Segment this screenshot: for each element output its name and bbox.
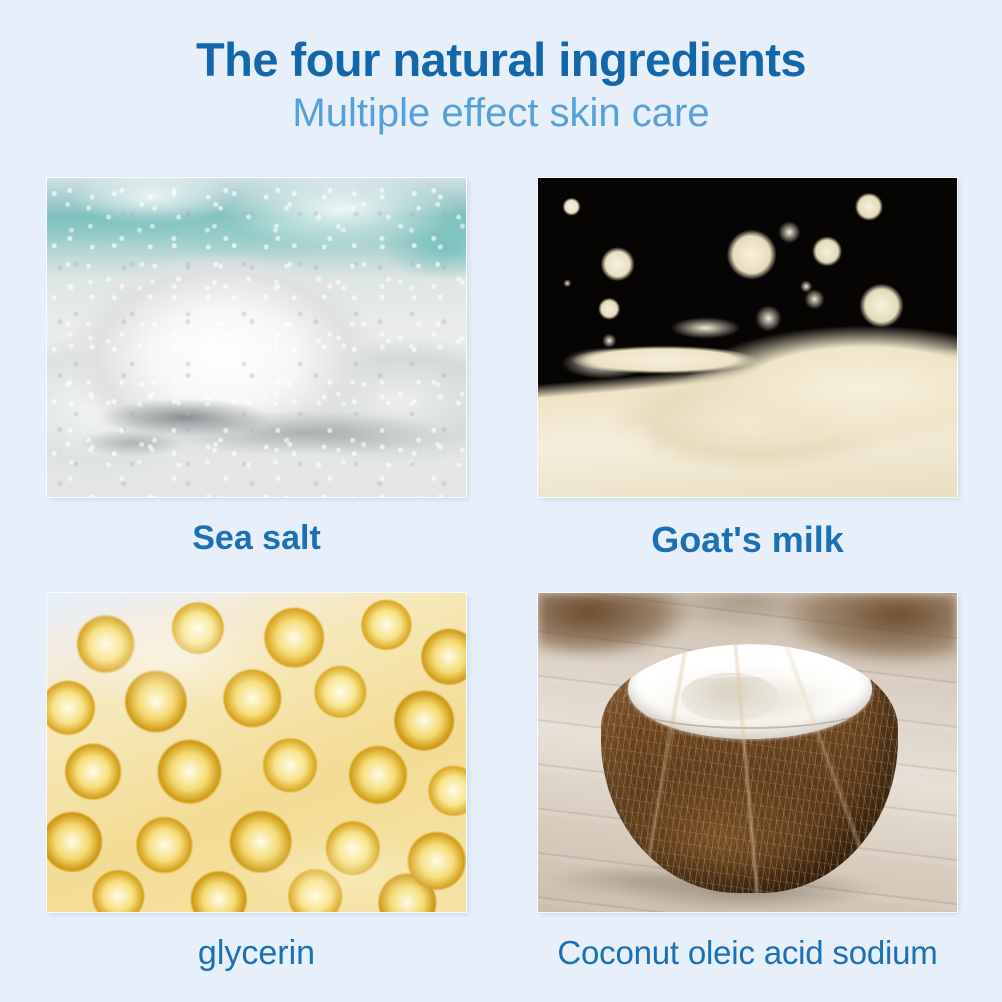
ingredients-grid: Sea salt Goat's milk glycerin	[0, 0, 1002, 1002]
ingredient-caption-coconut: Coconut oleic acid sodium	[538, 934, 957, 972]
glycerin-gloss-highlight	[47, 593, 466, 912]
ingredient-card-sea-salt: Sea salt	[47, 178, 466, 558]
sea-salt-photo	[47, 178, 466, 497]
ingredient-caption-sea-salt: Sea salt	[47, 519, 466, 558]
goats-milk-photo	[538, 178, 957, 497]
ingredients-infographic: The four natural ingredients Multiple ef…	[0, 0, 1002, 1002]
ingredient-card-goats-milk: Goat's milk	[538, 178, 957, 561]
coconut-husk-shell	[601, 644, 898, 893]
glycerin-capsules-photo	[47, 593, 466, 912]
salt-grain-texture	[47, 178, 466, 497]
ingredient-card-glycerin: glycerin	[47, 593, 466, 973]
ingredient-card-coconut: Coconut oleic acid sodium	[538, 593, 957, 972]
milk-droplets	[538, 178, 957, 497]
coconut-photo	[538, 593, 957, 912]
coconut-stray-hairs	[601, 644, 898, 893]
ingredient-caption-goats-milk: Goat's milk	[538, 519, 957, 561]
ingredient-caption-glycerin: glycerin	[47, 934, 466, 973]
